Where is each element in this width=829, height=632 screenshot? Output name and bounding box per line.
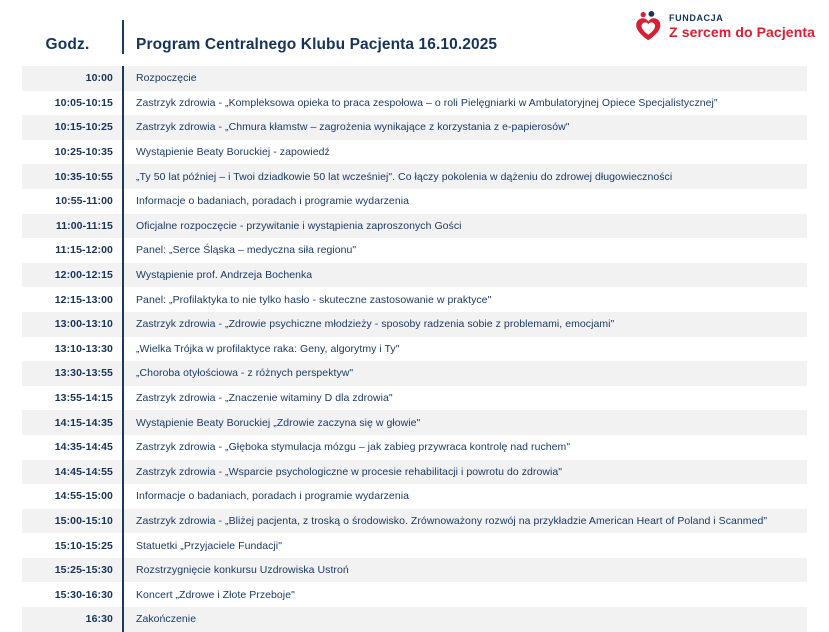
row-time: 12:00-12:15 [22, 265, 113, 285]
row-time: 13:00-13:10 [22, 314, 113, 334]
table-row: 11:00-11:15Oficjalne rozpoczęcie - przyw… [22, 214, 807, 239]
table-row: 13:30-13:55„Choroba otyłościowa - z różn… [22, 361, 807, 386]
row-divider [113, 91, 135, 116]
row-divider [113, 214, 135, 239]
table-row: 13:55-14:15Zastrzyk zdrowia - „Znaczenie… [22, 386, 807, 411]
row-description: Informacje o badaniach, poradach i progr… [135, 191, 807, 211]
row-divider [113, 189, 135, 214]
row-divider [113, 607, 135, 632]
row-divider [113, 115, 135, 140]
row-divider [113, 66, 135, 91]
row-description: Zastrzyk zdrowia - „Znaczenie witaminy D… [135, 388, 807, 408]
row-time: 14:55-15:00 [22, 486, 113, 506]
row-divider [113, 164, 135, 189]
row-description: Rozstrzygnięcie konkursu Uzdrowiska Ustr… [135, 560, 807, 580]
row-divider [113, 386, 135, 411]
row-divider [113, 558, 135, 583]
row-description: Wystąpienie Beaty Boruckiej - zapowiedź [135, 142, 807, 162]
row-divider [113, 287, 135, 312]
row-description: Wystąpienie prof. Andrzeja Bochenka [135, 265, 807, 285]
table-row: 12:15-13:00Panel: „Profilaktyka to nie t… [22, 287, 807, 312]
row-divider [113, 238, 135, 263]
row-time: 14:45-14:55 [22, 462, 113, 482]
table-header-row: Godz. Program Centralnego Klubu Pacjenta… [22, 0, 807, 66]
row-description: „Ty 50 lat później – i Twoi dziadkowie 5… [135, 167, 807, 187]
row-time: 14:15-14:35 [22, 413, 113, 433]
row-description: Zastrzyk zdrowia - „Bliżej pacjenta, z t… [135, 511, 807, 531]
row-time: 15:25-15:30 [22, 560, 113, 580]
row-description: Zakończenie [135, 609, 807, 629]
header-divider [113, 0, 135, 54]
table-row: 15:10-15:25Statuetki „Przyjaciele Fundac… [22, 533, 807, 558]
table-row: 12:00-12:15Wystąpienie prof. Andrzeja Bo… [22, 263, 807, 288]
row-time: 15:10-15:25 [22, 536, 113, 556]
row-time: 15:00-15:10 [22, 511, 113, 531]
row-time: 10:00 [22, 68, 113, 88]
table-row: 14:45-14:55Zastrzyk zdrowia - „Wsparcie … [22, 460, 807, 485]
table-row: 15:30-16:30Koncert „Zdrowe i Złote Przeb… [22, 582, 807, 607]
row-divider [113, 312, 135, 337]
table-row: 10:25-10:35Wystąpienie Beaty Boruckiej -… [22, 140, 807, 165]
table-row: 11:15-12:00Panel: „Serce Śląska – medycz… [22, 238, 807, 263]
table-row: 15:00-15:10Zastrzyk zdrowia - „Bliżej pa… [22, 509, 807, 534]
row-time: 14:35-14:45 [22, 437, 113, 457]
program-table: Godz. Program Centralnego Klubu Pacjenta… [22, 0, 807, 632]
row-divider [113, 509, 135, 534]
table-row: 10:00Rozpoczęcie [22, 66, 807, 91]
table-row: 13:00-13:10Zastrzyk zdrowia - „Zdrowie p… [22, 312, 807, 337]
row-time: 10:55-11:00 [22, 191, 113, 211]
row-time: 16:30 [22, 609, 113, 629]
column-header-time: Godz. [22, 36, 113, 54]
row-divider [113, 361, 135, 386]
table-row: 13:10-13:30„Wielka Trójka w profilaktyce… [22, 337, 807, 362]
row-divider [113, 140, 135, 165]
row-divider [113, 410, 135, 435]
table-row: 14:35-14:45Zastrzyk zdrowia - „Głęboka s… [22, 435, 807, 460]
row-description: Panel: „Profilaktyka to nie tylko hasło … [135, 290, 807, 310]
row-description: Rozpoczęcie [135, 68, 807, 88]
table-row: 14:15-14:35Wystąpienie Beaty Boruckiej „… [22, 410, 807, 435]
row-description: Zastrzyk zdrowia - „Chmura kłamstw – zag… [135, 117, 807, 137]
row-time: 10:25-10:35 [22, 142, 113, 162]
page-title: Program Centralnego Klubu Pacjenta 16.10… [135, 36, 807, 54]
row-divider [113, 435, 135, 460]
table-body: 10:00Rozpoczęcie10:05-10:15Zastrzyk zdro… [22, 66, 807, 632]
row-description: Zastrzyk zdrowia - „Głęboka stymulacja m… [135, 437, 807, 457]
row-description: „Wielka Trójka w profilaktyce raka: Geny… [135, 339, 807, 359]
row-divider [113, 263, 135, 288]
table-row: 10:35-10:55„Ty 50 lat później – i Twoi d… [22, 164, 807, 189]
row-description: Wystąpienie Beaty Boruckiej „Zdrowie zac… [135, 413, 807, 433]
row-time: 13:30-13:55 [22, 363, 113, 383]
row-time: 10:15-10:25 [22, 117, 113, 137]
row-time: 15:30-16:30 [22, 585, 113, 605]
row-description: „Choroba otyłościowa - z różnych perspek… [135, 363, 807, 383]
row-divider [113, 533, 135, 558]
row-divider [113, 337, 135, 362]
table-row: 14:55-15:00Informacje o badaniach, porad… [22, 484, 807, 509]
row-description: Panel: „Serce Śląska – medyczna siła reg… [135, 240, 807, 260]
row-description: Zastrzyk zdrowia - „Wsparcie psychologic… [135, 462, 807, 482]
row-description: Zastrzyk zdrowia - „Kompleksowa opieka t… [135, 93, 807, 113]
row-description: Koncert „Zdrowe i Złote Przeboje" [135, 585, 807, 605]
table-row: 10:05-10:15Zastrzyk zdrowia - „Komplekso… [22, 91, 807, 116]
row-description: Zastrzyk zdrowia - „Zdrowie psychiczne m… [135, 314, 807, 334]
row-description: Statuetki „Przyjaciele Fundacji" [135, 536, 807, 556]
row-description: Informacje o badaniach, poradach i progr… [135, 486, 807, 506]
program-schedule-page: FUNDACJA Z sercem do Pacjenta Godz. Prog… [0, 0, 829, 592]
row-time: 12:15-13:00 [22, 290, 113, 310]
row-description: Oficjalne rozpoczęcie - przywitanie i wy… [135, 216, 807, 236]
table-row: 16:30Zakończenie [22, 607, 807, 632]
row-divider [113, 460, 135, 485]
row-divider [113, 484, 135, 509]
row-divider [113, 582, 135, 607]
row-time: 10:35-10:55 [22, 167, 113, 187]
row-time: 13:10-13:30 [22, 339, 113, 359]
table-row: 10:15-10:25Zastrzyk zdrowia - „Chmura kł… [22, 115, 807, 140]
table-row: 15:25-15:30Rozstrzygnięcie konkursu Uzdr… [22, 558, 807, 583]
row-time: 11:15-12:00 [22, 240, 113, 260]
row-time: 10:05-10:15 [22, 93, 113, 113]
row-time: 13:55-14:15 [22, 388, 113, 408]
row-time: 11:00-11:15 [22, 216, 113, 236]
table-row: 10:55-11:00Informacje o badaniach, porad… [22, 189, 807, 214]
